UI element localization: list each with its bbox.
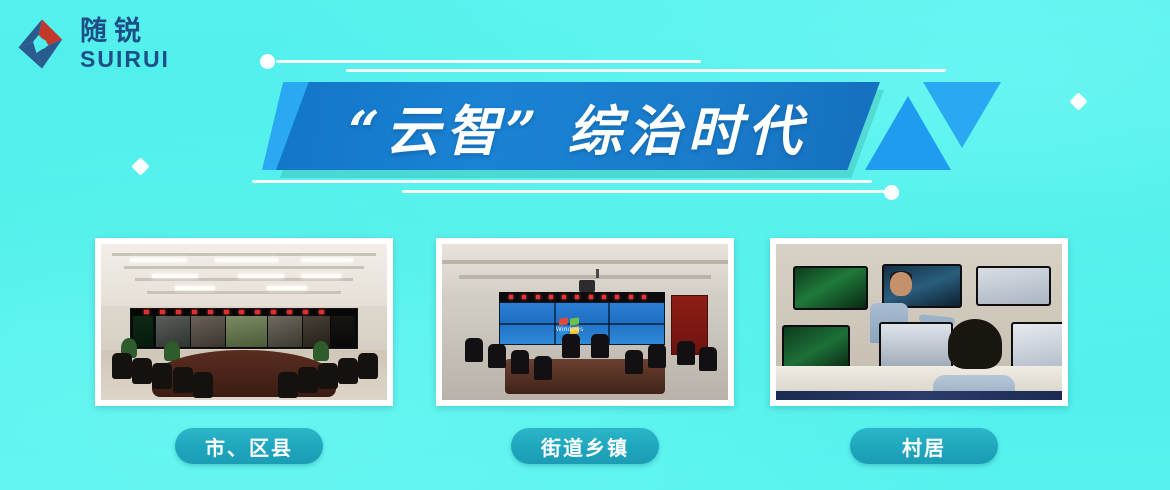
photo-village-monitoring-station [776, 244, 1062, 400]
decor-line-bottom-lower [402, 190, 892, 193]
card-label-city-district[interactable]: 市、区县 [175, 428, 323, 464]
decor-line-top-upper [276, 60, 701, 63]
photo-street-township-meeting-room: Windows [442, 244, 728, 400]
decor-dot-top-left [260, 54, 275, 69]
brand-name-en: SUIRUI [80, 48, 170, 71]
card-label-village[interactable]: 村居 [850, 428, 998, 464]
banner-triangle-down-icon [923, 82, 1001, 148]
photo-city-district-control-room [101, 244, 387, 400]
card-label-street-township[interactable]: 街道乡镇 [511, 428, 659, 464]
decor-line-top-lower [346, 69, 946, 72]
pinwheel-diamond-logo-icon [14, 16, 70, 72]
decor-diamond-left [131, 157, 149, 175]
brand-wordmark: 随锐 SUIRUI [80, 18, 170, 71]
brand-name-cn: 随锐 [80, 18, 170, 45]
photo-card-city-district[interactable] [95, 238, 393, 406]
decor-diamond-right [1069, 92, 1087, 110]
photo-card-street-township[interactable]: Windows [436, 238, 734, 406]
decor-line-bottom-upper [252, 180, 872, 183]
title-banner-block: “云智” 综治时代 [252, 52, 952, 200]
photo-card-village[interactable] [770, 238, 1068, 406]
title-banner: “云智” 综治时代 [262, 82, 922, 170]
decor-dot-bottom-right [884, 185, 899, 200]
brand-logo[interactable]: 随锐 SUIRUI [14, 16, 170, 72]
banner-title-text: “云智” 综治时代 [276, 82, 880, 170]
